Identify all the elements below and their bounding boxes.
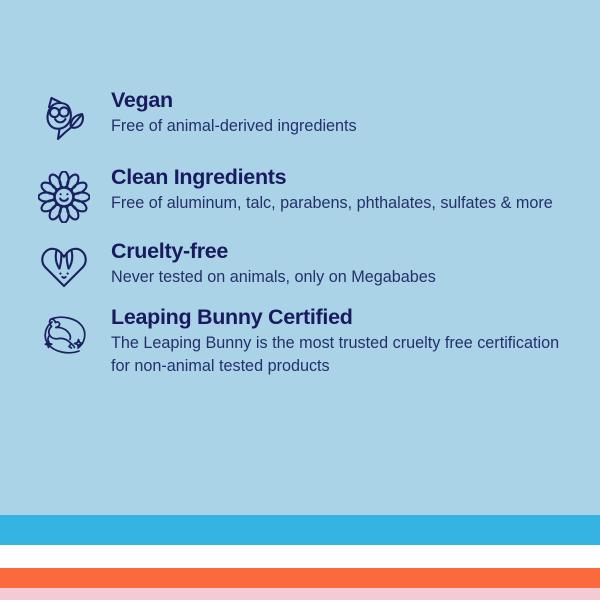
feature-text-leaping-bunny: Leaping Bunny Certified The Leaping Bunn… <box>95 305 561 377</box>
feature-item-vegan: Vegan Free of animal-derived ingredients <box>0 88 600 144</box>
feature-text-clean-ingredients: Clean Ingredients Free of aluminum, talc… <box>95 165 553 215</box>
feature-title: Cruelty-free <box>111 239 436 264</box>
feature-item-clean-ingredients: Clean Ingredients Free of aluminum, talc… <box>0 165 600 223</box>
feature-title: Vegan <box>111 88 357 113</box>
pink-stripe <box>0 588 600 600</box>
feature-description: The Leaping Bunny is the most trusted cr… <box>111 332 561 377</box>
feature-text-cruelty-free: Cruelty-free Never tested on animals, on… <box>95 239 436 289</box>
feature-title: Leaping Bunny Certified <box>111 305 561 330</box>
product-benefits-panel: Vegan Free of animal-derived ingredients <box>0 0 600 600</box>
feature-description: Never tested on animals, only on Megabab… <box>111 266 436 288</box>
bright-blue-stripe <box>0 515 600 545</box>
vegan-leaf-face-icon <box>33 88 95 144</box>
color-stripe-band <box>0 515 600 600</box>
bunny-heart-face-icon <box>33 239 95 289</box>
feature-title: Clean Ingredients <box>111 165 553 190</box>
feature-item-cruelty-free: Cruelty-free Never tested on animals, on… <box>0 239 600 289</box>
feature-description: Free of aluminum, talc, parabens, phthal… <box>111 192 553 214</box>
feature-text-vegan: Vegan Free of animal-derived ingredients <box>95 88 357 138</box>
orange-stripe <box>0 568 600 588</box>
feature-description: Free of animal-derived ingredients <box>111 115 357 137</box>
feature-list: Vegan Free of animal-derived ingredients <box>0 0 600 398</box>
daisy-flower-smiley-icon <box>33 165 95 223</box>
leaping-bunny-logo-icon <box>33 305 95 357</box>
feature-item-leaping-bunny: Leaping Bunny Certified The Leaping Bunn… <box>0 305 600 377</box>
white-stripe <box>0 545 600 568</box>
